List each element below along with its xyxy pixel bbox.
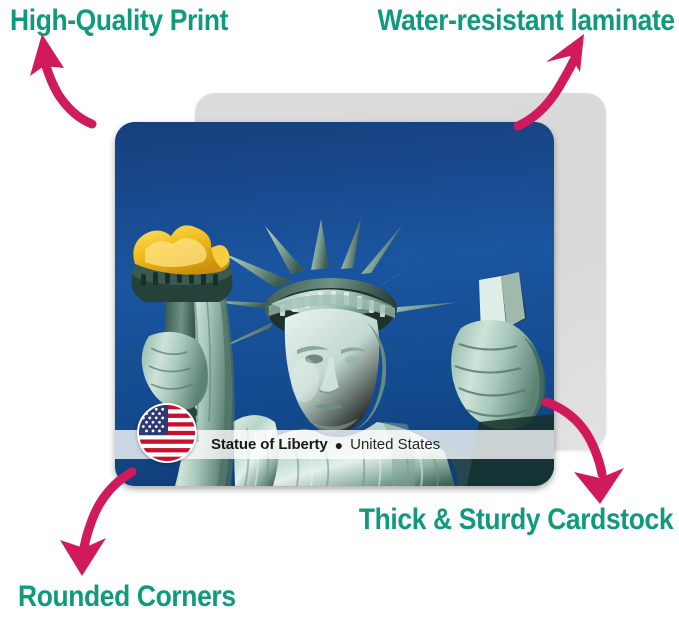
curved-arrow-up-left-icon	[18, 32, 128, 142]
callout-label-rounded-corners: Rounded Corners	[18, 582, 236, 612]
tablet-in-left-hand	[451, 272, 545, 430]
caption-separator-dot: ●	[335, 438, 343, 452]
caption-text: Statue of Liberty ● United States	[211, 430, 440, 459]
caption-title: Statue of Liberty	[211, 436, 328, 453]
statue-of-liberty-postcard[interactable]: Statue of Liberty ● United States	[115, 122, 554, 486]
us-flag-stripes	[139, 405, 195, 461]
us-flag-badge	[137, 403, 197, 463]
callout-label-water-resistant-laminate: Water-resistant laminate	[378, 6, 675, 36]
infographic-canvas: Statue of Liberty ● United States High-Q…	[0, 0, 679, 622]
postcard-caption-band: Statue of Liberty ● United States	[115, 430, 554, 459]
torch-flame	[133, 225, 230, 274]
statue-head	[285, 308, 386, 434]
caption-country: United States	[350, 436, 440, 453]
torch-hand	[142, 332, 208, 410]
callout-label-high-quality-print: High-Quality Print	[10, 6, 228, 36]
callout-label-thick-sturdy-cardstock: Thick & Sturdy Cardstock	[359, 505, 673, 535]
left-hand	[451, 320, 545, 430]
